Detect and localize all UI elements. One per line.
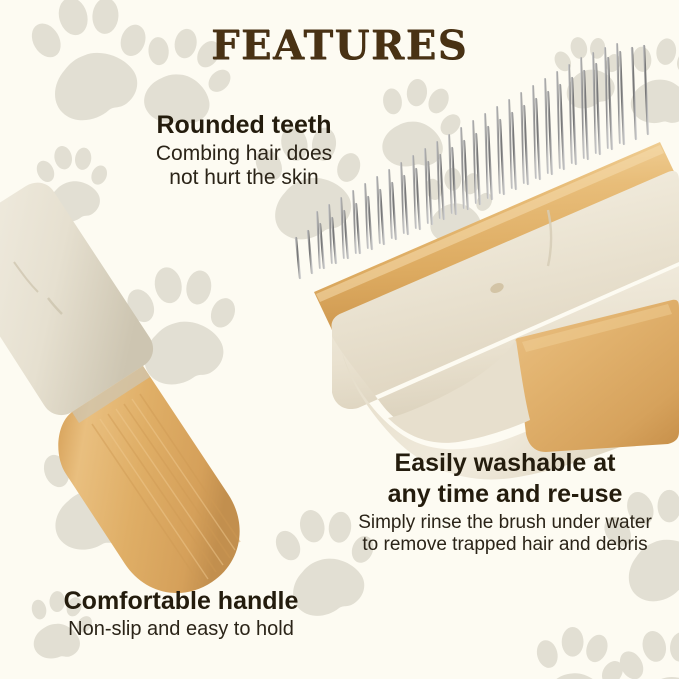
callout-comfortable-handle: Comfortable handle Non-slip and easy to … [16,588,346,641]
brush-handle-illustration [0,0,679,679]
infographic-canvas: FEATURES Rounded teeth Combing hair does… [0,0,679,679]
page-title: FEATURES [0,22,679,69]
callout-heading-line-2: any time and re-use [336,481,674,508]
callout-body-line-1: Simply rinse the brush under water [336,512,674,534]
callout-heading: Comfortable handle [16,588,346,615]
callout-easily-washable: Easily washable at any time and re-use S… [336,450,674,556]
callout-rounded-teeth: Rounded teeth Combing hair does not hurt… [104,112,384,191]
callout-body-line-1: Non-slip and easy to hold [16,618,346,641]
callout-body-line-1: Combing hair does [104,142,384,166]
callout-heading-line-1: Easily washable at [336,450,674,477]
callout-body-line-2: to remove trapped hair and debris [336,534,674,556]
callout-heading: Rounded teeth [104,112,384,139]
callout-body-line-2: not hurt the skin [104,166,384,190]
